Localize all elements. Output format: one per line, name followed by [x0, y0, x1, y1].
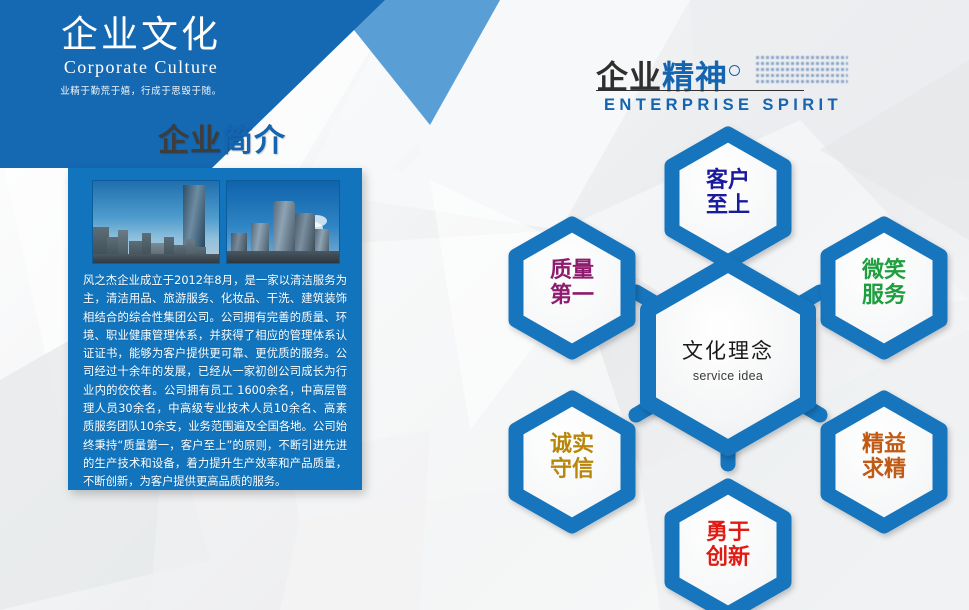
- hex-shape-innovation: [672, 486, 784, 610]
- hub-label-cn: 文化理念: [648, 335, 808, 365]
- page-title: 企业简介: [158, 115, 286, 160]
- header-title-cn: 企业文化: [36, 14, 246, 55]
- header-text-group: 企业文化 Corporate Culture 业精于勤荒于嬉，行成于思毁于随。: [36, 14, 246, 97]
- hex-shape-customer-first: [672, 134, 784, 262]
- skyscrapers-photo: [226, 180, 340, 264]
- hex-shape-excellence: [828, 398, 940, 526]
- circle-icon: [729, 65, 740, 76]
- spirit-title-group: 企业精神 ENTERPRISE SPIRIT: [596, 52, 846, 98]
- header-subtitle: 业精于勤荒于嬉，行成于思毁于随。: [36, 83, 246, 97]
- hub-label-en: service idea: [648, 369, 808, 383]
- decorative-text-lines: [756, 56, 848, 90]
- hex-shape-quality-first: [516, 224, 628, 352]
- culture-wall-canvas: 企业文化 Corporate Culture 业精于勤荒于嬉，行成于思毁于随。 …: [0, 0, 969, 610]
- company-profile-card: 风之杰企业成立于2012年8月，是一家以清洁服务为主，清洁用品、旅游服务、化妆品…: [68, 168, 362, 490]
- city-skyline-photo: [92, 180, 220, 264]
- company-description: 风之杰企业成立于2012年8月，是一家以清洁服务为主，清洁用品、旅游服务、化妆品…: [83, 272, 347, 492]
- hex-shape-integrity: [516, 398, 628, 526]
- header-title-en: Corporate Culture: [36, 57, 246, 78]
- photo-row: [92, 180, 340, 262]
- hex-shape-smile-service: [828, 224, 940, 352]
- hexagon-diagram: 文化理念 service idea 客户 至上 微笑 服务 精益 求精 勇于 创…: [488, 96, 969, 610]
- page-title-blue: 简介: [222, 123, 286, 159]
- divider: [596, 90, 804, 91]
- page-title-dark: 企业: [158, 123, 222, 159]
